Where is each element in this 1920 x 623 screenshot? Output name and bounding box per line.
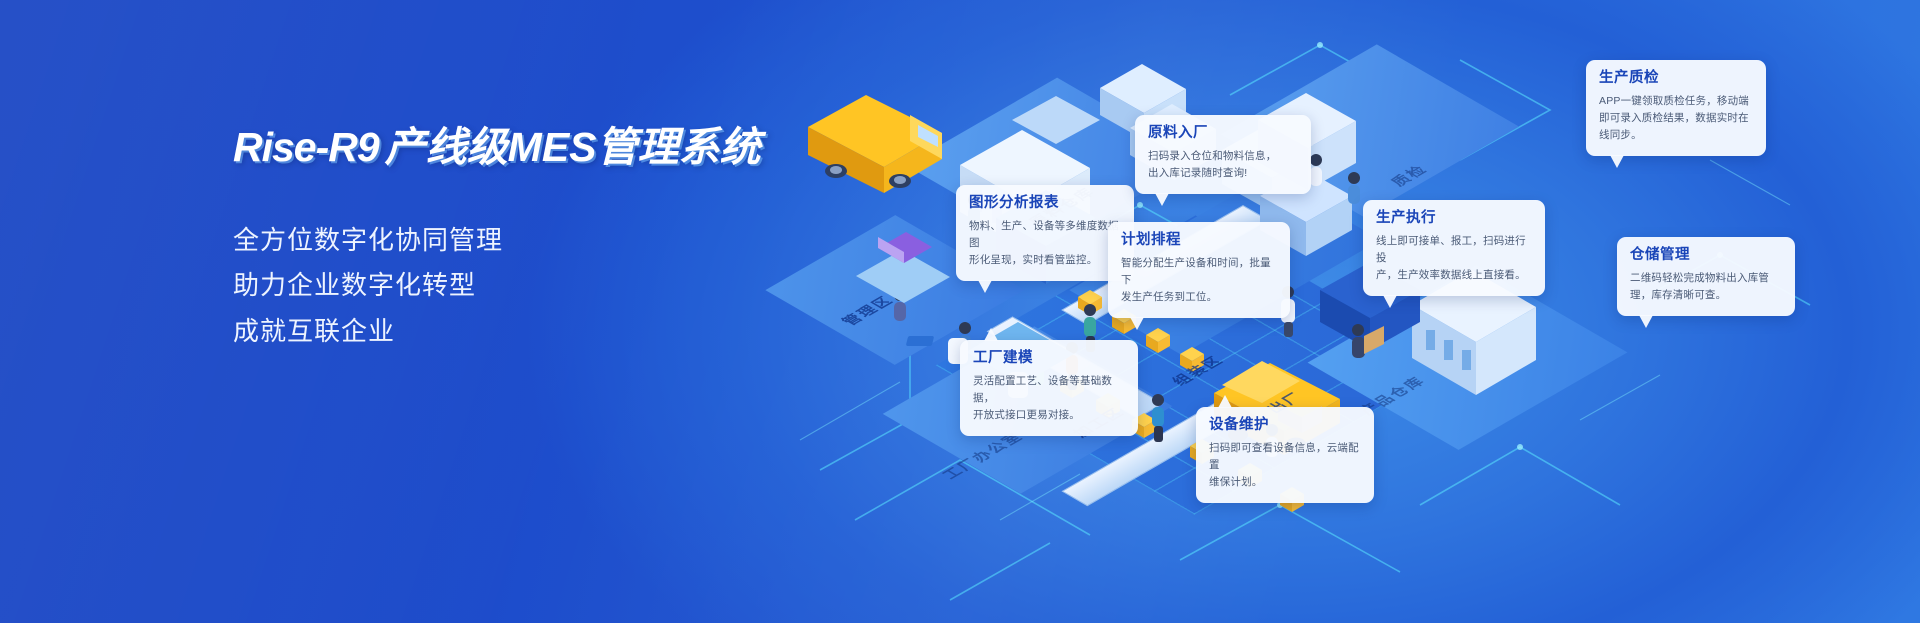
card-title: 图形分析报表 — [969, 196, 1121, 212]
card-tail — [978, 280, 992, 293]
subtitle-block: 全方位数字化协同管理 助力企业数字化转型 成就互联企业 — [233, 218, 793, 355]
card-description: 扫码即可查看设备信息，云端配置 维保计划。 — [1209, 440, 1361, 491]
callout-card-raw-material-inbound[interactable]: 原料入厂 扫码录入仓位和物料信息， 出入库记录随时查询! — [1135, 115, 1311, 194]
callout-card-warehouse-management[interactable]: 仓储管理 二维码轻松完成物料出入库管 理，库存清晰可查。 — [1617, 237, 1795, 316]
card-description: 扫码录入仓位和物料信息， 出入库记录随时查询! — [1148, 148, 1298, 182]
card-tail — [1639, 315, 1653, 328]
card-description: 灵活配置工艺、设备等基础数据， 开放式接口更易对接。 — [973, 373, 1125, 424]
subtitle-line-2: 助力企业数字化转型 — [233, 263, 793, 309]
page-title: Rise-R9产线级MES管理系统 — [233, 124, 793, 172]
card-title: 生产执行 — [1376, 211, 1532, 227]
card-tail — [1130, 317, 1144, 330]
card-tail — [1610, 155, 1624, 168]
card-tail — [1218, 395, 1232, 408]
card-title: 计划排程 — [1121, 233, 1277, 249]
headline-block: Rise-R9产线级MES管理系统 全方位数字化协同管理 助力企业数字化转型 成… — [233, 124, 793, 354]
card-description: APP一键领取质检任务，移动端 即可录入质检结果，数据实时在 线同步。 — [1599, 93, 1753, 144]
card-description: 线上即可接单、报工，扫码进行投 产，生产效率数据线上直接看。 — [1376, 233, 1532, 284]
subtitle-line-1: 全方位数字化协同管理 — [233, 218, 793, 264]
card-title: 工厂建模 — [973, 351, 1125, 367]
card-title: 原料入厂 — [1148, 126, 1298, 142]
callout-card-production-execution[interactable]: 生产执行 线上即可接单、报工，扫码进行投 产，生产效率数据线上直接看。 — [1363, 200, 1545, 296]
product-subtitle-cn: 产线级MES管理系统 — [385, 124, 761, 170]
card-title: 设备维护 — [1209, 418, 1361, 434]
card-description: 二维码轻松完成物料出入库管 理，库存清晰可查。 — [1630, 270, 1782, 304]
callout-card-factory-modeling[interactable]: 工厂建模 灵活配置工艺、设备等基础数据， 开放式接口更易对接。 — [960, 340, 1138, 436]
callout-card-plan-scheduling[interactable]: 计划排程 智能分配生产设备和时间，批量下 发生产任务到工位。 — [1108, 222, 1290, 318]
card-tail — [984, 328, 998, 341]
subtitle-line-3: 成就互联企业 — [233, 309, 793, 355]
card-tail — [1383, 295, 1397, 308]
callout-card-equipment-maintenance[interactable]: 设备维护 扫码即可查看设备信息，云端配置 维保计划。 — [1196, 407, 1374, 503]
card-title: 仓储管理 — [1630, 248, 1782, 264]
mes-banner: Rise-R9产线级MES管理系统 全方位数字化协同管理 助力企业数字化转型 成… — [0, 0, 1920, 623]
card-description: 智能分配生产设备和时间，批量下 发生产任务到工位。 — [1121, 255, 1277, 306]
callout-card-production-quality-inspection[interactable]: 生产质检 APP一键领取质检任务，移动端 即可录入质检结果，数据实时在 线同步。 — [1586, 60, 1766, 156]
management-desk — [856, 232, 950, 303]
card-title: 生产质检 — [1599, 71, 1753, 87]
card-tail — [1155, 193, 1169, 206]
product-name: Rise-R9 — [233, 124, 379, 170]
card-description: 物料、生产、设备等多维度数据图 形化呈现，实时看管监控。 — [969, 218, 1121, 269]
